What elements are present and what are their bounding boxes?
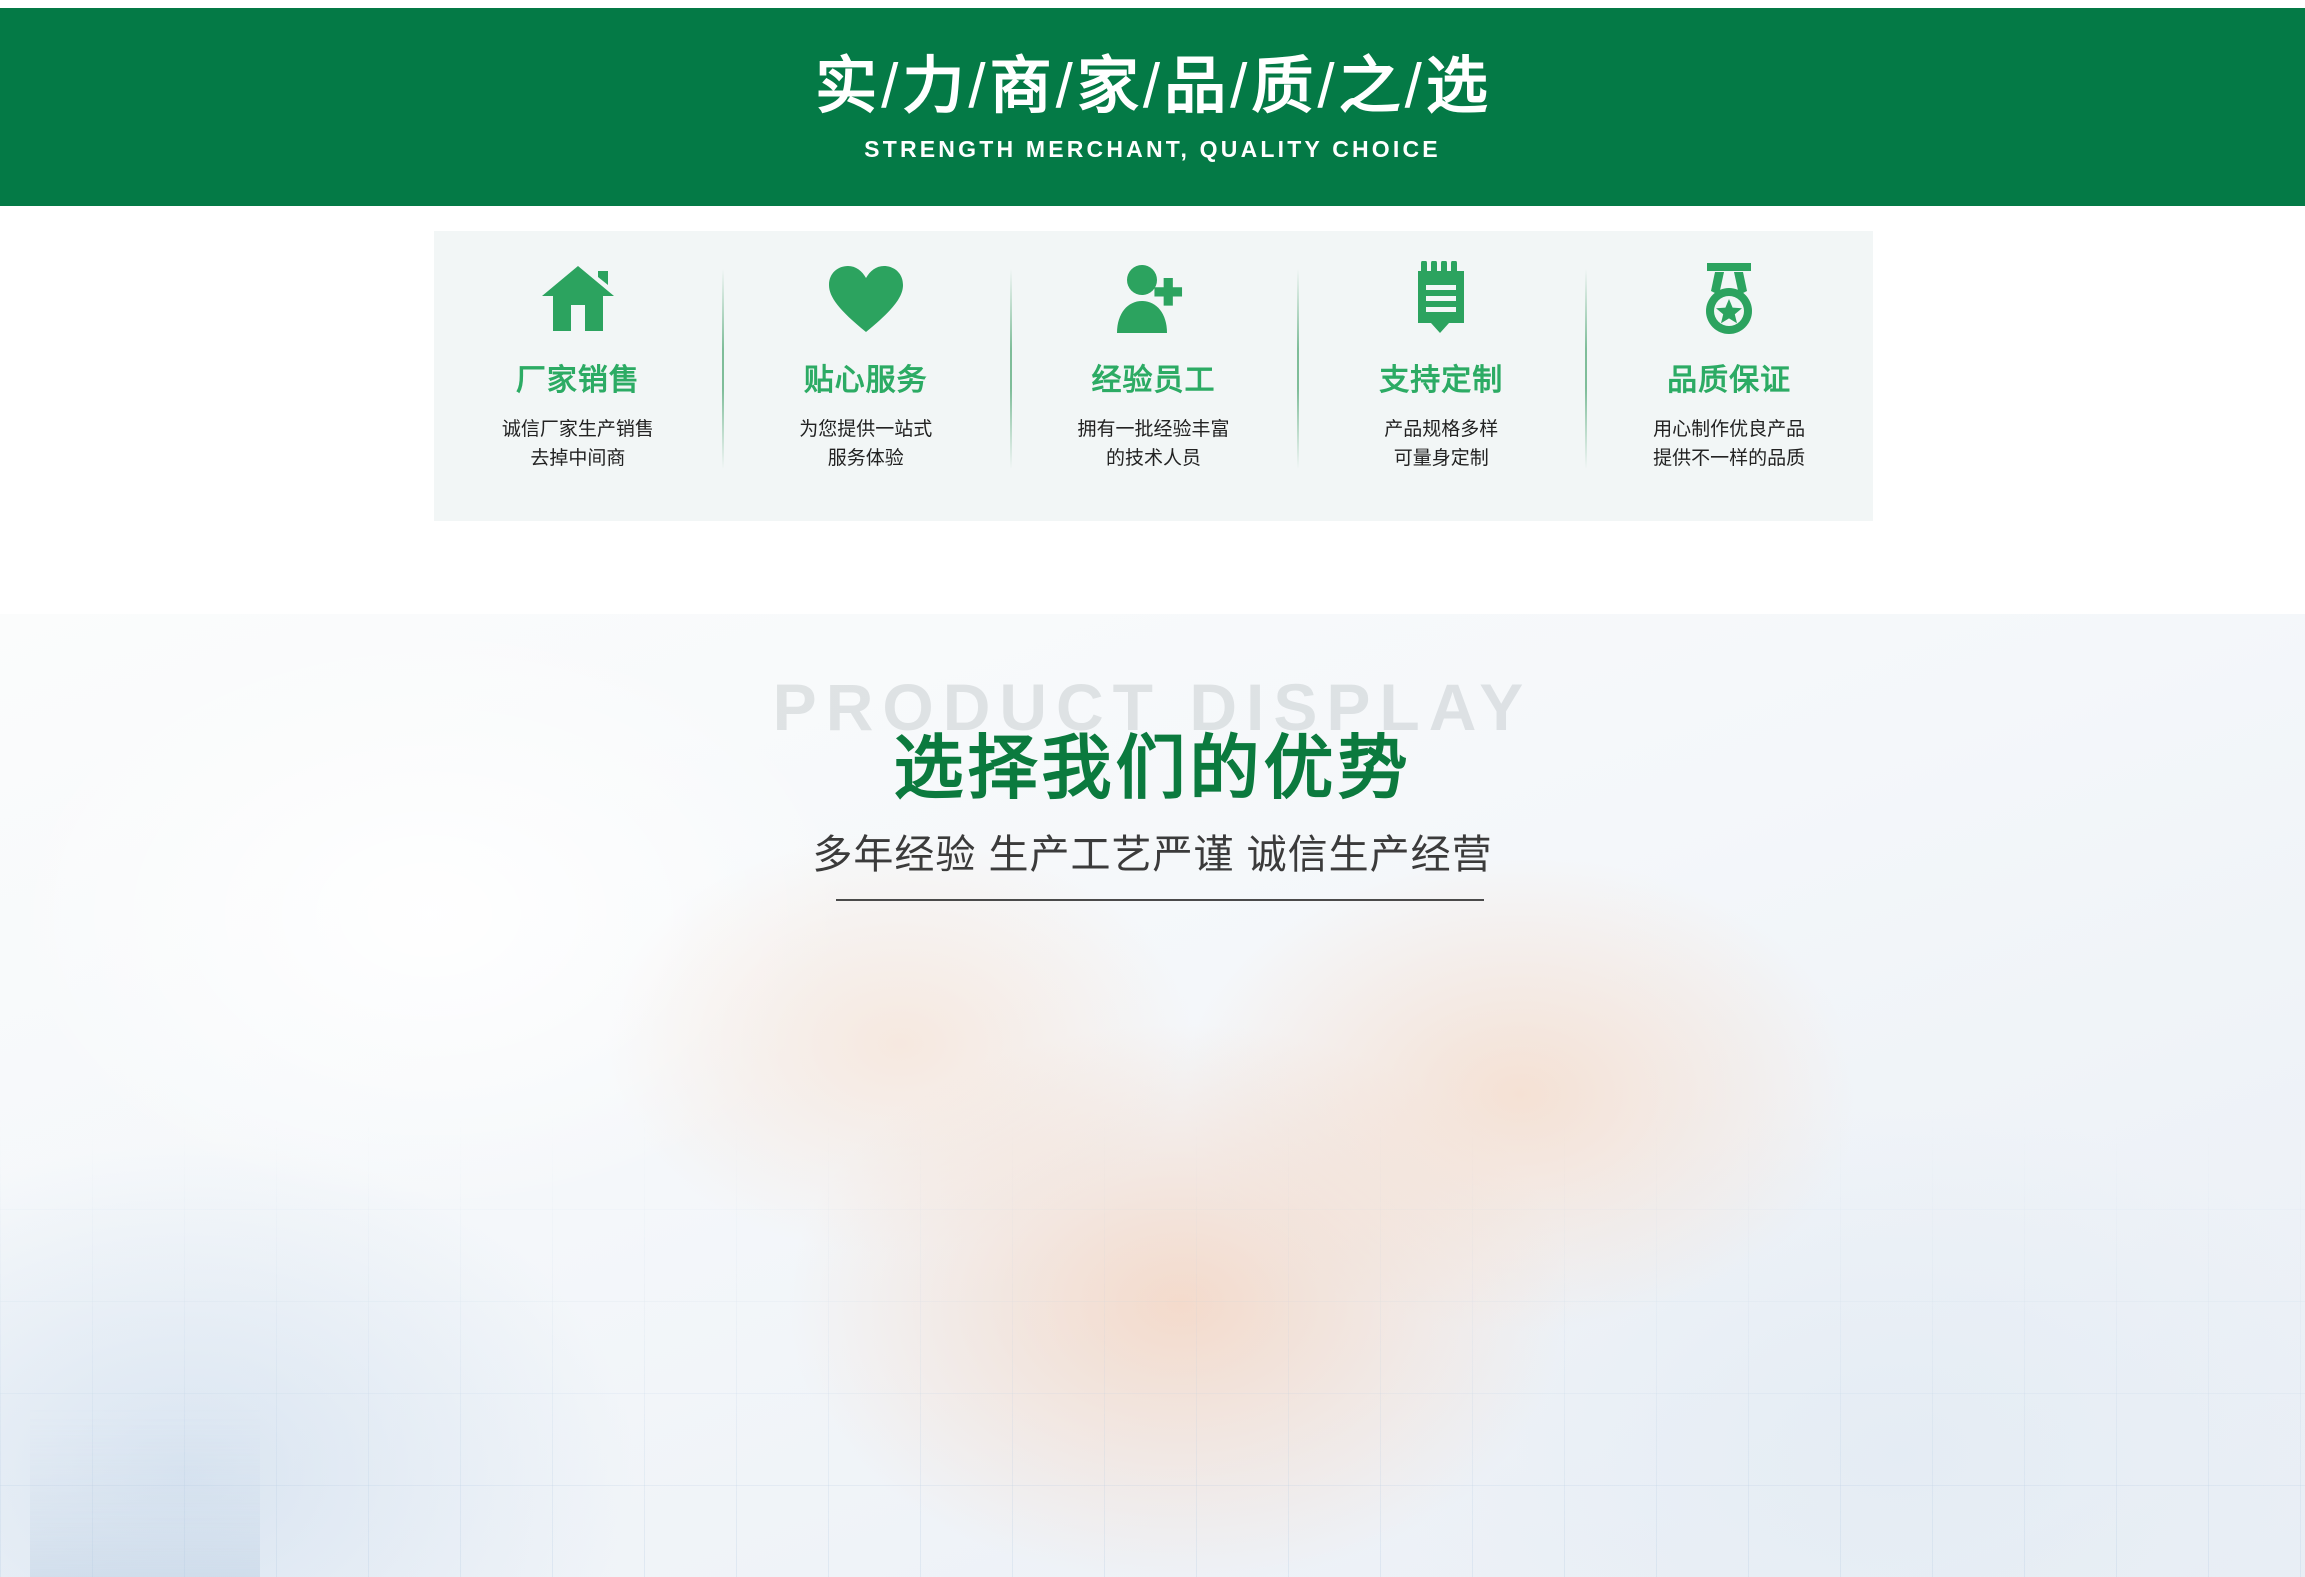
banner-title-char-6: 之 [1339,52,1403,121]
medal-icon [1693,261,1765,337]
feature-desc-line1: 为您提供一站式 [799,415,932,444]
banner-title-sep-5: / [1315,52,1338,121]
banner-title-char-7: 选 [1426,52,1490,121]
hero-banner: 实/力/商/家/品/质/之/选 STRENGTH MERCHANT, QUALI… [0,8,2305,206]
banner-title-sep-4: / [1228,52,1251,121]
feature-desc: 拥有一批经验丰富 的技术人员 [1077,415,1229,474]
feature-desc-line2: 提供不一样的品质 [1653,444,1805,473]
banner-title-char-0: 实 [815,52,879,121]
promotional-detail-page: 实/力/商/家/品/质/之/选 STRENGTH MERCHANT, QUALI… [0,0,2305,1577]
feature-item-factory-sales: 厂家销售 诚信厂家生产销售 去掉中间商 [434,231,722,521]
feature-desc: 为您提供一站式 服务体验 [799,415,932,474]
section-subtitle: 多年经验 生产工艺严谨 诚信生产经营 [0,822,2305,880]
banner-subtitle: STRENGTH MERCHANT, QUALITY CHOICE [864,136,1441,163]
feature-desc-line2: 的技术人员 [1077,444,1229,473]
banner-title-sep-2: / [1054,52,1077,121]
user-plus-icon [1114,261,1192,337]
feature-item-custom-support: 支持定制 产品规格多样 可量身定制 [1297,231,1585,521]
banner-title-char-1: 力 [902,52,966,121]
feature-desc-line1: 诚信厂家生产销售 [502,415,654,444]
feature-desc-line2: 服务体验 [799,444,932,473]
product-advantage-section: PRODUCT DISPLAY 选择我们的优势 多年经验 生产工艺严谨 诚信生产… [0,614,2305,1577]
heart-icon [827,261,905,337]
feature-panel: 厂家销售 诚信厂家生产销售 去掉中间商 贴心服务 为您提供一站式 服务体验 [434,231,1873,521]
feature-title: 厂家销售 [516,355,640,399]
feature-title: 贴心服务 [804,355,928,399]
feature-desc-line1: 用心制作优良产品 [1653,415,1805,444]
banner-title-sep-3: / [1141,52,1164,121]
feature-title: 经验员工 [1091,355,1215,399]
feature-desc-line1: 拥有一批经验丰富 [1077,415,1229,444]
feature-item-caring-service: 贴心服务 为您提供一站式 服务体验 [722,231,1010,521]
banner-title-sep-1: / [966,52,989,121]
banner-title-char-4: 品 [1164,52,1228,121]
feature-title: 品质保证 [1667,355,1791,399]
feature-desc: 诚信厂家生产销售 去掉中间商 [502,415,654,474]
banner-title-sep-6: / [1403,52,1426,121]
feature-desc: 用心制作优良产品 提供不一样的品质 [1653,415,1805,474]
banner-title: 实/力/商/家/品/质/之/选 [815,51,1490,122]
feature-desc-line2: 去掉中间商 [502,444,654,473]
feature-desc-line1: 产品规格多样 [1384,415,1498,444]
section-heading: 选择我们的优势 [0,712,2305,813]
feature-desc-line2: 可量身定制 [1384,444,1498,473]
background-skyline [30,1397,260,1577]
feature-title: 支持定制 [1379,355,1503,399]
feature-item-experienced-staff: 经验员工 拥有一批经验丰富 的技术人员 [1010,231,1298,521]
background-grid-pattern [0,1117,2305,1577]
banner-title-char-5: 质 [1251,52,1315,121]
feature-desc: 产品规格多样 可量身定制 [1384,415,1498,474]
banner-title-sep-0: / [879,52,902,121]
banner-title-char-3: 家 [1077,52,1141,121]
notepad-icon [1409,261,1473,337]
house-icon [540,261,616,337]
section-divider [836,899,1484,901]
banner-title-char-2: 商 [990,52,1054,121]
feature-item-quality-guarantee: 品质保证 用心制作优良产品 提供不一样的品质 [1585,231,1873,521]
